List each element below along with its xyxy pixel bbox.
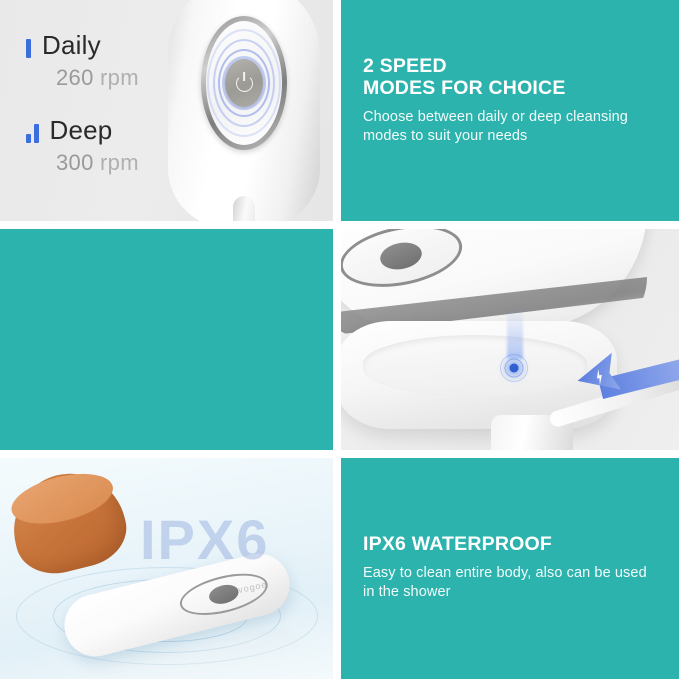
panel-speed-settings-photo: Daily 260 rpm Deep 300 rpm: [0, 0, 333, 221]
power-button[interactable]: [225, 59, 263, 107]
spec-value-deep: 300 rpm: [56, 152, 139, 174]
water-text-block: IPX6 WATERPROOF Easy to clean entire bod…: [363, 533, 661, 602]
spec-row-deep: Deep: [26, 109, 139, 143]
dock-cradle: [363, 335, 587, 397]
spec-rpm-daily: 260: [56, 65, 94, 90]
speed-headline: 2 SPEED MODES FOR CHOICE: [363, 55, 661, 99]
speed-headline-line2: MODES FOR CHOICE: [363, 77, 661, 99]
infographic-grid: Daily 260 rpm Deep 300 rpm 2 SPEED MO: [0, 0, 679, 679]
speed-text-block: 2 SPEED MODES FOR CHOICE Choose between …: [363, 55, 661, 146]
spec-label-daily: Daily: [42, 32, 101, 58]
oscillation-badge: [341, 229, 467, 296]
charge-beam-glow: [507, 307, 523, 359]
spec-value-daily: 260 rpm: [56, 67, 139, 89]
power-icon: [236, 75, 253, 92]
speed-headline-line1: 2 SPEED: [363, 55, 447, 77]
signal-bars-icon-deep: [26, 123, 39, 143]
panel-type-c-charging: TYPE-C CHARGING With 1200mAh battery, 3 …: [0, 229, 333, 450]
water-headline: IPX6 WATERPROOF: [363, 533, 661, 555]
panel-two-speed-modes: 2 SPEED MODES FOR CHOICE Choose between …: [341, 0, 679, 221]
panel-waterproof-photo: vogoe: [0, 458, 333, 679]
device-body-image: [168, 0, 320, 221]
device-bezel: [201, 16, 287, 150]
usb-c-port: [501, 355, 527, 381]
spec-row-daily: Daily: [26, 24, 139, 58]
brush-bristles: [6, 465, 118, 533]
device-button-dot: [207, 582, 240, 607]
oscillation-dot: [378, 239, 424, 273]
spec-label-deep: Deep: [50, 117, 113, 143]
device-button-ring: [176, 566, 272, 623]
spec-unit-daily: rpm: [100, 65, 139, 90]
panel-ipx6-waterproof: IPX6 WATERPROOF Easy to clean entire bod…: [341, 458, 679, 679]
speed-subtext: Choose between daily or deep cleansing m…: [363, 108, 661, 146]
spec-rpm-deep: 300: [56, 150, 94, 175]
water-headline-line1: IPX6 WATERPROOF: [363, 533, 552, 555]
spec-unit-deep: rpm: [100, 150, 139, 175]
signal-bars-icon-daily: [26, 38, 31, 58]
panel-charging-dock-photo: [341, 229, 679, 450]
water-subtext: Easy to clean entire body, also can be u…: [363, 564, 661, 602]
port-core-glow: [510, 364, 519, 373]
speed-spec-list: Daily 260 rpm Deep 300 rpm: [26, 24, 139, 194]
brush-head: [2, 462, 134, 582]
